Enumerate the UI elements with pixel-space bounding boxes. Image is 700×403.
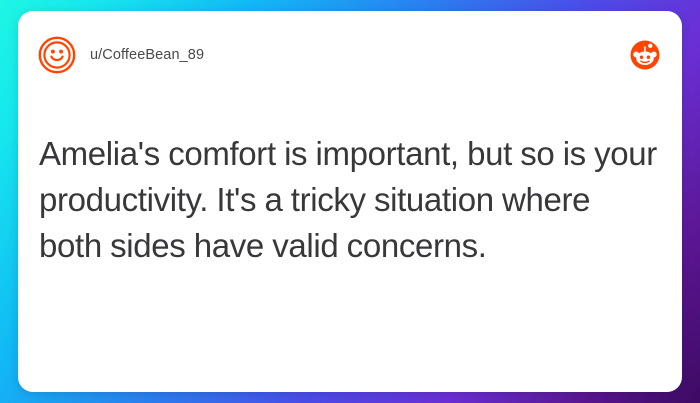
post-username[interactable]: u/CoffeeBean_89 xyxy=(90,47,204,63)
post-body: Amelia's comfort is important, but so is… xyxy=(18,131,682,269)
smiley-face-avatar-icon[interactable] xyxy=(38,36,76,74)
post-body-text: Amelia's comfort is important, but so is… xyxy=(39,131,660,269)
post-header: u/CoffeeBean_89 xyxy=(18,11,682,99)
reddit-snoo-icon[interactable] xyxy=(630,40,660,70)
reddit-post-card: u/CoffeeBean_89 Amelia's comfort is impo… xyxy=(18,11,682,392)
screenshot-root: u/CoffeeBean_89 Amelia's comfort is impo… xyxy=(0,0,700,403)
